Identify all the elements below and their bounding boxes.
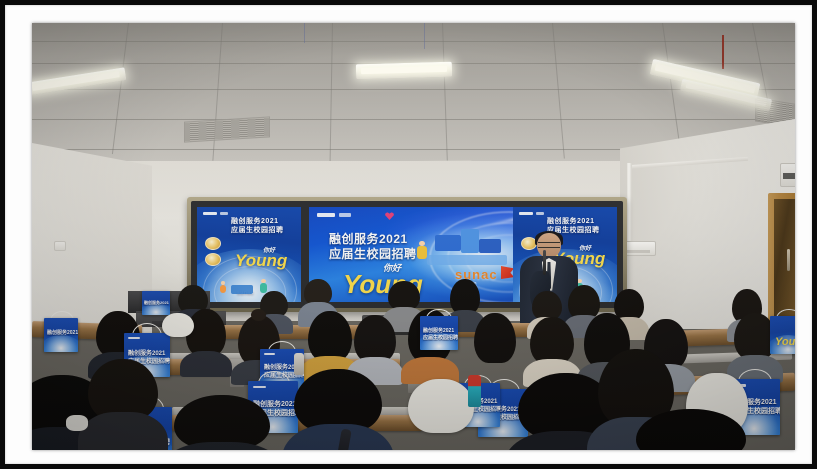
tote-bag: 融创服务2021 应届生校园招聘 <box>420 316 458 350</box>
illustration-building <box>427 255 507 265</box>
tote-script-word: Young <box>775 336 795 348</box>
illustration-figure <box>417 241 427 259</box>
seated-audience-member <box>174 395 270 450</box>
left-panel-script-word: Young <box>235 251 287 271</box>
illustration-figure <box>219 281 227 293</box>
photo-frame: 融创服务2021 应届生校园招聘 你好 Young sunac <box>0 0 817 469</box>
illustration-building <box>435 235 461 251</box>
left-panel-headline-1: 融创服务2021 <box>231 218 279 226</box>
center-logo-row <box>317 213 351 217</box>
university-seal-icon <box>205 237 221 250</box>
tote-text-line1: 融创服务2021 <box>47 331 78 337</box>
panel-logo-row <box>519 212 544 215</box>
tote-text-line1: 融创服务2021 <box>128 351 165 358</box>
wall-mounted-ac-panel <box>780 163 795 187</box>
hair-bun <box>251 309 266 322</box>
tote-text-line2: 应届生校园招聘 <box>423 336 458 342</box>
illustration-building <box>231 285 253 294</box>
eyeglasses-icon <box>538 242 560 248</box>
door-handle-icon[interactable] <box>787 249 790 271</box>
tote-bag: Young <box>770 316 795 354</box>
seated-audience-member <box>88 359 158 450</box>
tote-bag: 融创服务2021 <box>142 291 170 315</box>
tote-text-line1: 融创服务2021 <box>144 301 169 306</box>
fluorescent-light <box>356 62 452 80</box>
seated-audience-member <box>636 409 746 450</box>
cloud-shaped-prop <box>162 313 194 337</box>
left-panel-headline-2: 应届生校园招聘 <box>231 227 284 235</box>
microphone-icon <box>543 250 546 275</box>
photo-mat: 融创服务2021 应届生校园招聘 你好 Young sunac <box>5 5 812 464</box>
illustration-building <box>479 239 501 253</box>
panel-logo-row <box>203 212 228 215</box>
left-poster-panel: 融创服务2021 应届生校园招聘 你好 Young sunac <box>197 207 301 302</box>
seated-audience-member <box>474 313 516 379</box>
seated-audience-member <box>186 309 226 371</box>
thermos-bottle <box>468 375 481 407</box>
center-headline-1: 融创服务2021 <box>329 233 408 246</box>
face-mask-icon <box>66 415 88 431</box>
illustration-building <box>461 229 479 253</box>
seated-audience-member <box>530 317 574 381</box>
wall-conduit-pipe <box>627 163 632 245</box>
photograph: 融创服务2021 应届生校园招聘 你好 Young sunac <box>32 23 795 450</box>
university-seal-icon <box>205 253 221 266</box>
electrical-switch-plate <box>54 241 66 251</box>
tote-bag: 融创服务2021 <box>44 318 78 352</box>
right-panel-headline-1: 融创服务2021 <box>547 218 595 226</box>
heart-logo-icon <box>385 212 394 220</box>
seated-audience-member <box>294 369 382 450</box>
seated-audience-member <box>308 311 352 377</box>
center-headline-2: 应届生校园招聘 <box>329 248 417 261</box>
cloud-shaped-prop <box>408 379 474 433</box>
tote-text-line1: 融创服务2021 <box>423 329 454 335</box>
